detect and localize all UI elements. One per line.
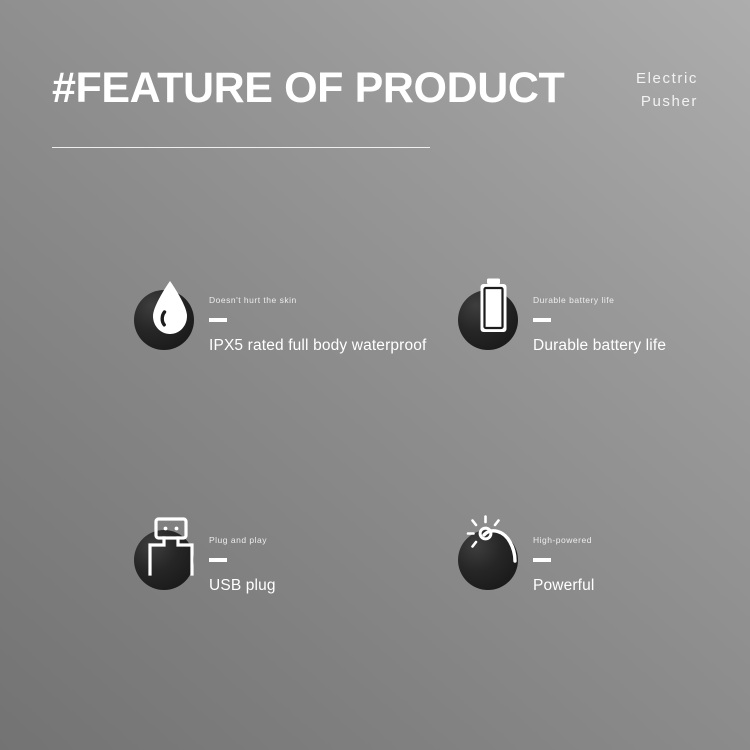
feature-headline: Durable battery life [533,333,750,359]
feature-badge [458,530,518,590]
feature-grid: Doesn't hurt the skin IPX5 rated full bo… [0,272,750,696]
feature-copy: High-powered Powerful [533,534,750,599]
feature-row: Doesn't hurt the skin IPX5 rated full bo… [0,272,750,484]
feature-copy: Doesn't hurt the skin IPX5 rated full bo… [209,294,449,359]
feature-headline: USB plug [209,573,449,599]
feature-dash [209,558,227,562]
feature-dash [209,318,227,322]
feature-copy: Durable battery life Durable battery lif… [533,294,750,359]
title-divider [52,147,430,148]
brand-line-1: Electric [636,67,698,90]
feature-kicker: Doesn't hurt the skin [209,294,449,306]
brand-line-2: Pusher [636,90,698,113]
feature-dash [533,318,551,322]
feature-kicker: High-powered [533,534,750,546]
poster-header: #FEATURE OF PRODUCT Electric Pusher [52,62,698,114]
feature-kicker: Plug and play [209,534,449,546]
feature-kicker: Durable battery life [533,294,750,306]
feature-badge [458,290,518,350]
feature-headline: IPX5 rated full body waterproof [209,333,449,359]
feature-row: Plug and play USB plug [0,512,750,724]
product-feature-poster: #FEATURE OF PRODUCT Electric Pusher Does… [0,0,750,750]
feature-dash [533,558,551,562]
page-title: #FEATURE OF PRODUCT [52,62,698,114]
feature-badge [134,530,194,590]
feature-badge [134,290,194,350]
feature-headline: Powerful [533,573,750,599]
feature-copy: Plug and play USB plug [209,534,449,599]
brand-name: Electric Pusher [636,67,698,113]
